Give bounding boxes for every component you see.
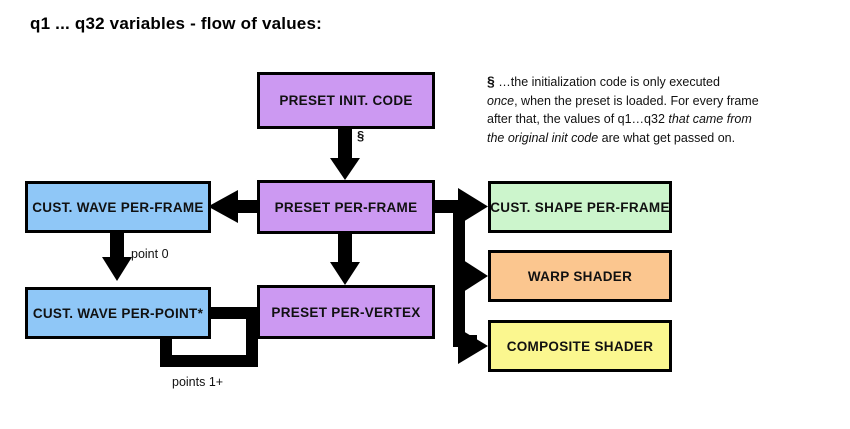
node-warp-shader[interactable]: WARP SHADER [488,250,672,302]
footnote-line-2-rest: , when the preset is loaded. For every f… [514,94,759,108]
node-preset-per-frame[interactable]: PRESET PER-FRAME [257,180,435,234]
edge-perframe-to-pervertex [330,234,360,285]
diagram-canvas: q1 ... q32 variables - flow of values: [0,0,850,429]
footnote-block: § …the initialization code is only execu… [487,72,807,147]
node-cust-wave-per-point[interactable]: CUST. WAVE PER-POINT* [25,287,211,339]
node-composite-shader[interactable]: COMPOSITE SHADER [488,320,672,372]
footnote-marker: § [487,73,495,89]
footnote-line-3-plain: after that, the values of q1…q32 [487,112,668,126]
section-marker-label: § [357,128,364,143]
footnote-line-1: …the initialization code is only execute… [498,75,720,89]
footnote-line-4-rest: are what get passed on. [598,131,735,145]
footnote-line-2-italic: once [487,94,514,108]
edge-perframe-to-wave-perframe [208,190,260,223]
edge-waveframe-to-wavepoint [102,233,132,281]
edge-label-point-0: point 0 [131,247,169,261]
footnote-line-4-italic: the original init code [487,131,598,145]
node-cust-wave-per-frame[interactable]: CUST. WAVE PER-FRAME [25,181,211,233]
node-preset-per-vertex[interactable]: PRESET PER-VERTEX [257,285,435,339]
edge-perframe-to-right-bus [433,188,488,364]
edge-label-points-1-plus: points 1+ [172,375,223,389]
edge-init-to-perframe [330,129,360,180]
footnote-line-3-italic: that came from [668,112,751,126]
node-preset-init-code[interactable]: PRESET INIT. CODE [257,72,435,129]
node-cust-shape-per-frame[interactable]: CUST. SHAPE PER-FRAME [488,181,672,233]
page-title: q1 ... q32 variables - flow of values: [30,14,322,34]
